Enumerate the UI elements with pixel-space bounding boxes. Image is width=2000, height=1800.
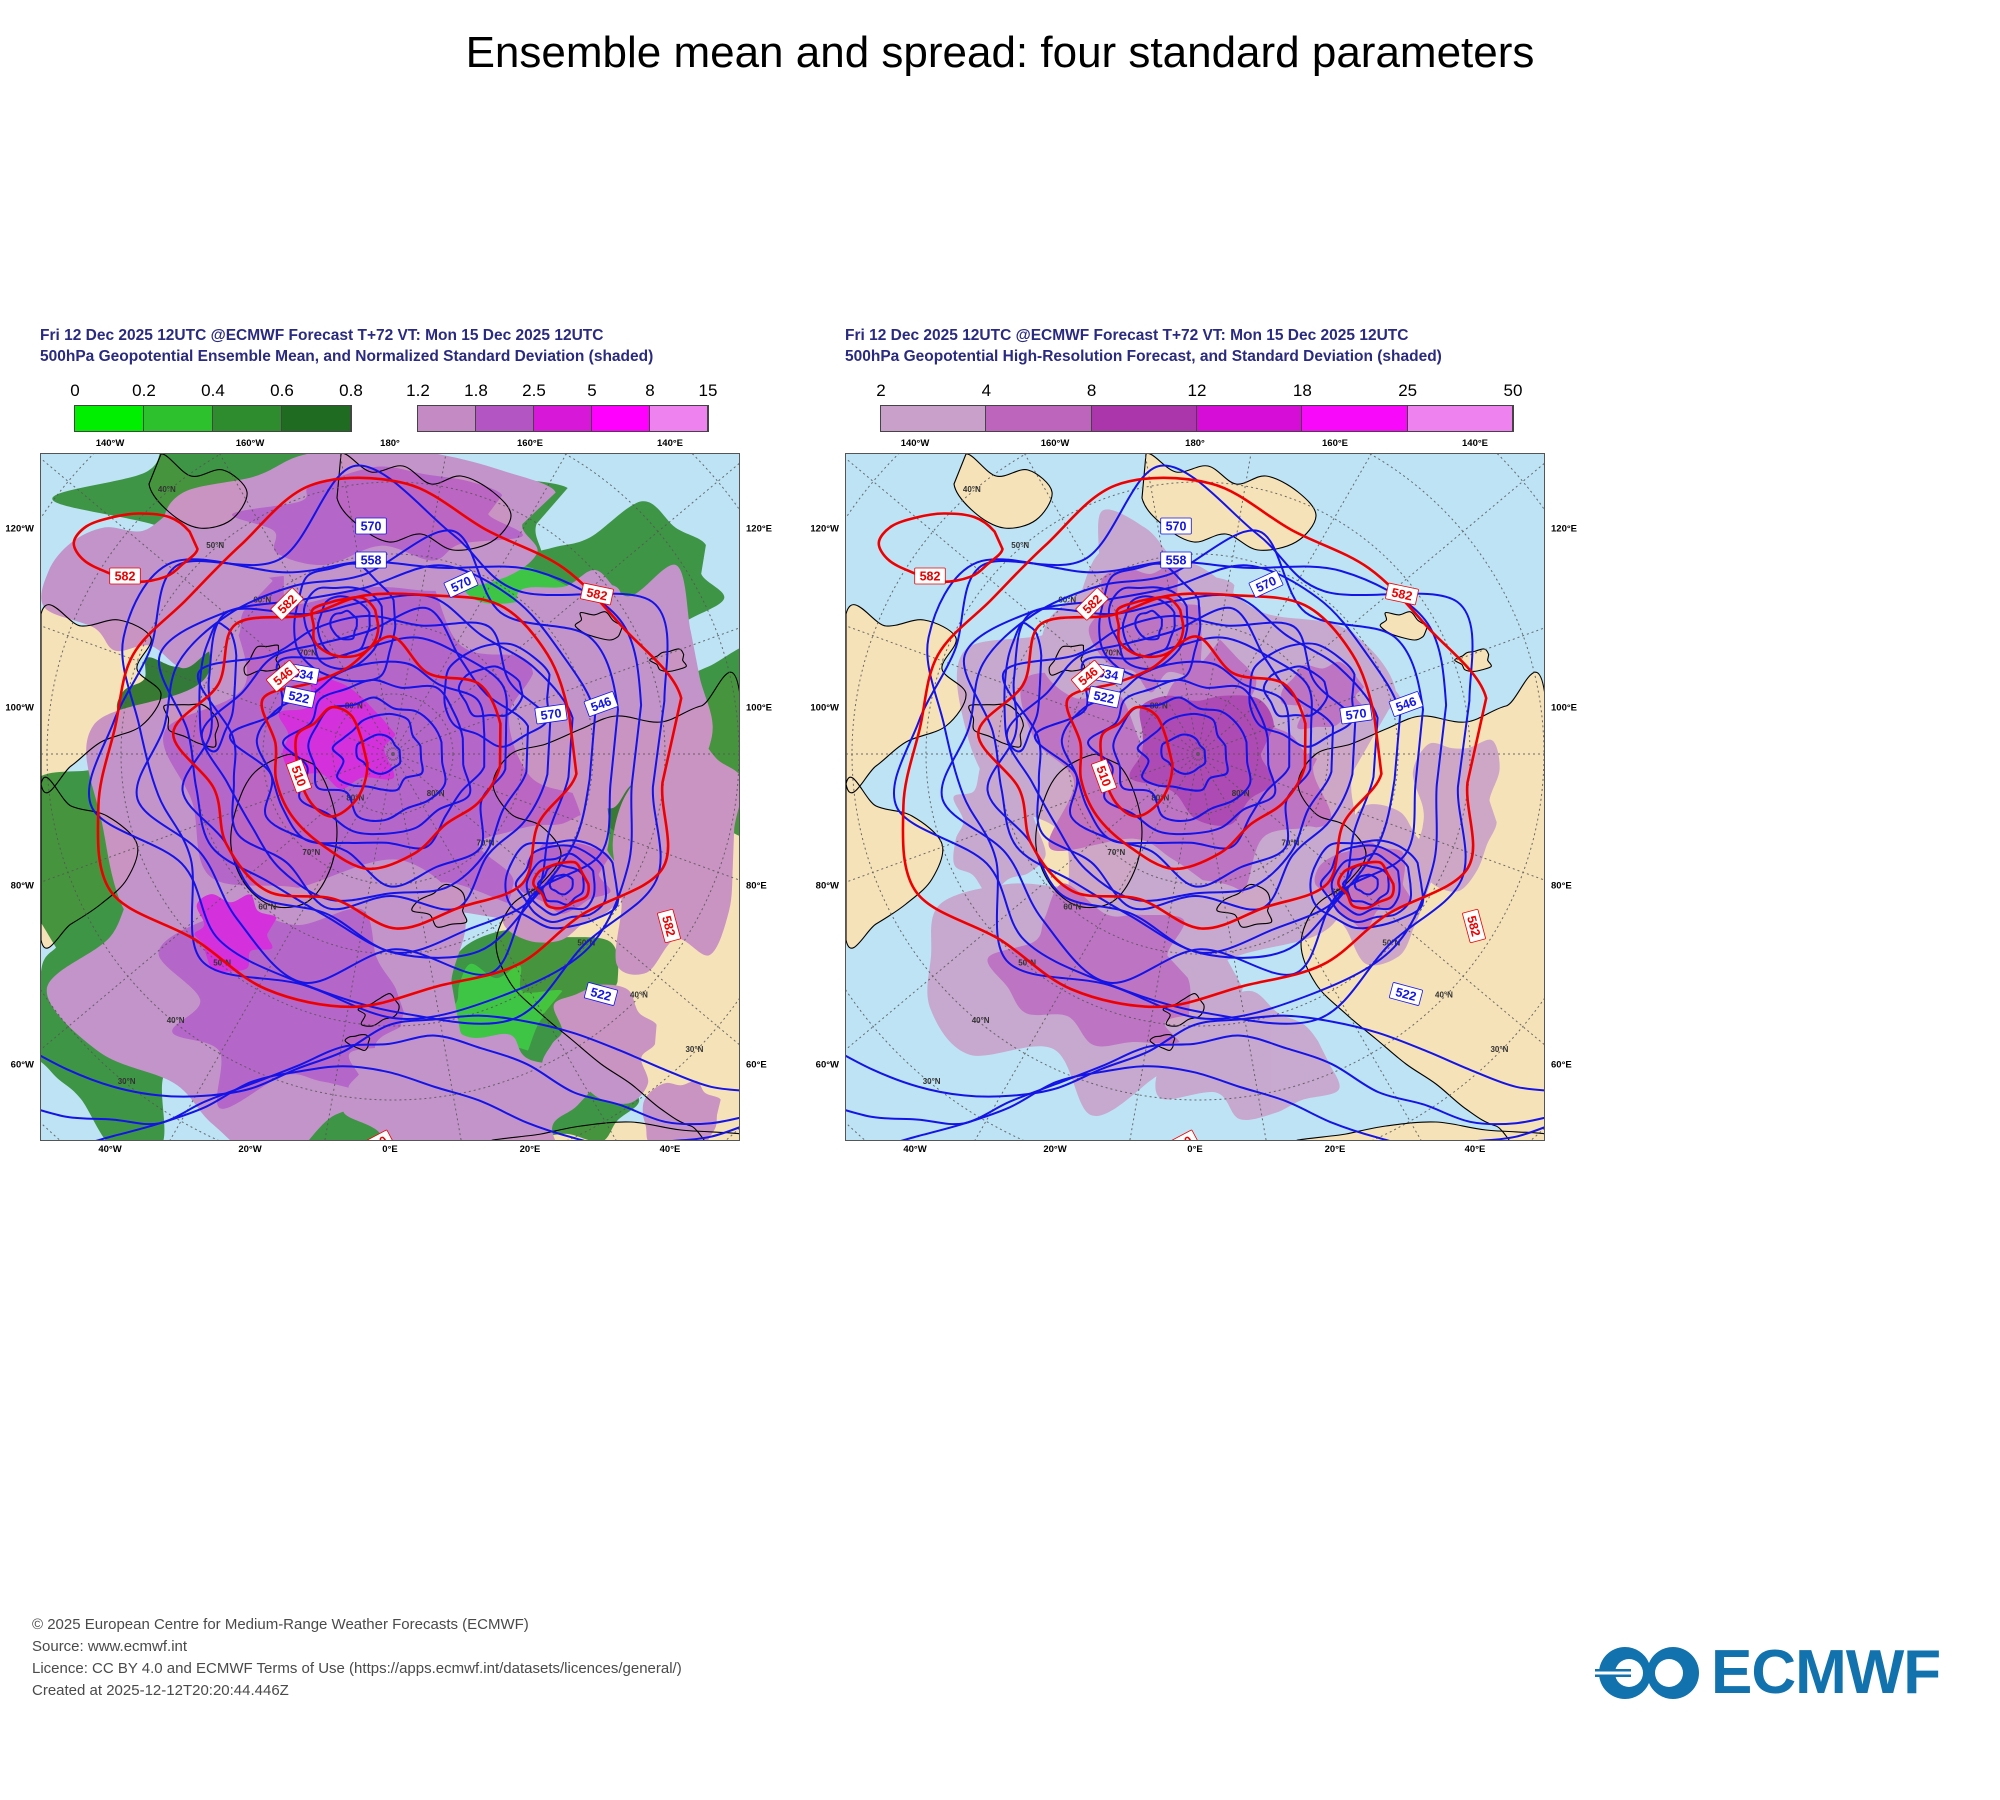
axis-label-top: 140°E — [1462, 438, 1488, 449]
colorbar-tick-label: 0 — [70, 381, 79, 401]
colorbar-swatch — [534, 406, 592, 431]
footer: © 2025 European Centre for Medium-Range … — [32, 1614, 682, 1702]
colorbar-row-right: 24812182550 — [845, 379, 1545, 435]
panel-ensemble-mean: Fri 12 Dec 2025 12UTC @ECMWF Forecast T+… — [40, 325, 740, 1123]
footer-source: Source: www.ecmwf.int — [32, 1636, 682, 1658]
colorbar-green-scale: 00.20.40.60.8 — [74, 405, 352, 432]
axis-label-top: 160°W — [236, 438, 265, 449]
footer-created: Created at 2025-12-12T20:20:44.446Z — [32, 1680, 682, 1702]
axis-label-bottom: 40°E — [660, 1144, 681, 1155]
panel-header-line1: Fri 12 Dec 2025 12UTC @ECMWF Forecast T+… — [845, 325, 1545, 346]
colorbar-swatch — [592, 406, 650, 431]
graticule-label: 70°N — [302, 848, 320, 857]
map-container-right: 80°N80°N80°N70°N70°N70°N60°N60°N60°N50°N… — [845, 435, 1545, 1123]
colorbar-swatch — [282, 406, 351, 431]
axis-label-left: 100°W — [5, 702, 34, 713]
graticule-label: 40°N — [963, 485, 981, 494]
colorbar-swatch — [1408, 406, 1513, 431]
ecmwf-logo-mark — [1595, 1637, 1703, 1709]
colorbar-tick-label: 2 — [876, 381, 885, 401]
colorbar-tick-label: 5 — [587, 381, 596, 401]
colorbar-tick-label: 25 — [1398, 381, 1417, 401]
graticule-label: 40°N — [972, 1016, 990, 1025]
axis-label-top: 180° — [380, 438, 400, 449]
colorbar-tick-label: 1.8 — [464, 381, 488, 401]
graticule-label: 60°N — [258, 903, 276, 912]
map-svg: 80°N80°N80°N70°N70°N70°N60°N60°N60°N50°N… — [846, 454, 1545, 1141]
graticule-label: 40°N — [630, 990, 648, 999]
axis-label-right: 120°E — [746, 524, 772, 535]
colorbar-swatch — [476, 406, 534, 431]
panel-header-line2: 500hPa Geopotential Ensemble Mean, and N… — [40, 346, 740, 367]
colorbar-swatch — [881, 406, 986, 431]
axis-label-top: 160°E — [517, 438, 543, 449]
graticule-label: 50°N — [1011, 541, 1029, 550]
axis-label-right: 80°E — [1551, 881, 1572, 892]
colorbar-swatch — [1092, 406, 1197, 431]
colorbar-swatch — [144, 406, 213, 431]
graticule-label: 40°N — [158, 485, 176, 494]
axis-label-right: 120°E — [1551, 524, 1577, 535]
colorbar-purple-scale: 1.21.82.55815 — [417, 405, 709, 432]
graticule-label: 50°N — [206, 541, 224, 550]
axis-label-bottom: 40°W — [98, 1144, 121, 1155]
axis-label-bottom: 0°E — [382, 1144, 397, 1155]
footer-licence: Licence: CC BY 4.0 and ECMWF Terms of Us… — [32, 1658, 682, 1680]
contour-label: 558 — [1161, 552, 1192, 568]
axis-label-top: 140°W — [901, 438, 930, 449]
panel-header-left: Fri 12 Dec 2025 12UTC @ECMWF Forecast T+… — [40, 325, 740, 367]
colorbar-tick-label: 15 — [699, 381, 718, 401]
axis-label-left: 80°W — [11, 881, 34, 892]
colorbar-swatch — [986, 406, 1091, 431]
colorbar-swatch — [75, 406, 144, 431]
colorbar-tick-label: 12 — [1188, 381, 1207, 401]
contour-label: 582 — [915, 568, 946, 584]
axis-label-bottom: 0°E — [1187, 1144, 1202, 1155]
graticule-label: 40°N — [1435, 990, 1453, 999]
axis-label-right: 100°E — [1551, 702, 1577, 713]
svg-text:570: 570 — [361, 520, 382, 534]
axis-label-right: 60°E — [1551, 1060, 1572, 1071]
ecmwf-logo-text: ECMWF — [1711, 1642, 1940, 1704]
contour-label: 582 — [110, 568, 141, 584]
colorbar-tick-label: 18 — [1293, 381, 1312, 401]
colorbar-tick-label: 50 — [1504, 381, 1523, 401]
colorbar-tick-label: 8 — [1087, 381, 1096, 401]
colorbar-swatch — [650, 406, 708, 431]
svg-text:582: 582 — [920, 570, 941, 584]
graticule-label: 30°N — [1490, 1045, 1508, 1054]
map-svg: 80°N80°N80°N70°N70°N70°N60°N60°N60°N50°N… — [41, 454, 740, 1141]
axis-label-left: 120°W — [5, 524, 34, 535]
svg-text:558: 558 — [1166, 554, 1187, 568]
colorbar-tick-label: 0.2 — [132, 381, 156, 401]
colorbar-tick-label: 8 — [645, 381, 654, 401]
axis-label-top: 180° — [1185, 438, 1205, 449]
colorbar-row-left: 00.20.40.60.8 1.21.82.55815 — [40, 379, 740, 435]
panel-header-right: Fri 12 Dec 2025 12UTC @ECMWF Forecast T+… — [845, 325, 1545, 367]
colorbar-tick-label: 0.6 — [270, 381, 294, 401]
shading-layer — [41, 454, 740, 1141]
graticule-label: 80°N — [1232, 789, 1250, 798]
axis-label-bottom: 40°E — [1465, 1144, 1486, 1155]
axis-label-top: 160°W — [1041, 438, 1070, 449]
colorbar-swatch — [1197, 406, 1302, 431]
axis-label-bottom: 40°W — [903, 1144, 926, 1155]
svg-text:570: 570 — [1345, 706, 1368, 723]
graticule-label: 30°N — [685, 1045, 703, 1054]
svg-text:558: 558 — [361, 554, 382, 568]
colorbar-tick-label: 0.8 — [339, 381, 363, 401]
axis-label-bottom: 20°E — [520, 1144, 541, 1155]
axis-label-top: 160°E — [1322, 438, 1348, 449]
map-plot-area[interactable]: 80°N80°N80°N70°N70°N70°N60°N60°N60°N50°N… — [845, 453, 1545, 1141]
map-plot-area[interactable]: 80°N80°N80°N70°N70°N70°N60°N60°N60°N50°N… — [40, 453, 740, 1141]
axis-label-top: 140°E — [657, 438, 683, 449]
axis-label-bottom: 20°W — [1043, 1144, 1066, 1155]
contour-label: 570 — [356, 518, 387, 534]
svg-text:570: 570 — [540, 706, 563, 723]
axis-label-right: 80°E — [746, 881, 767, 892]
panel-header-line1: Fri 12 Dec 2025 12UTC @ECMWF Forecast T+… — [40, 325, 740, 346]
contour-label: 570 — [1161, 518, 1192, 534]
colorbar-swatch — [213, 406, 282, 431]
graticule-label: 40°N — [167, 1016, 185, 1025]
axis-label-top: 140°W — [96, 438, 125, 449]
ecmwf-logo: ECMWF — [1595, 1636, 1940, 1710]
axis-label-left: 60°W — [11, 1060, 34, 1071]
colorbar-swatch — [418, 406, 476, 431]
graticule-label: 70°N — [1107, 848, 1125, 857]
svg-text:570: 570 — [1166, 520, 1187, 534]
colorbar-swatch — [1302, 406, 1407, 431]
axis-label-left: 60°W — [816, 1060, 839, 1071]
colorbar-tick-label: 4 — [982, 381, 991, 401]
axis-label-right: 100°E — [746, 702, 772, 713]
colorbar-tick-label: 2.5 — [522, 381, 546, 401]
panel-high-resolution: Fri 12 Dec 2025 12UTC @ECMWF Forecast T+… — [845, 325, 1545, 1123]
colorbar-purple-scale: 24812182550 — [880, 405, 1514, 432]
axis-label-left: 80°W — [816, 881, 839, 892]
contour-label: 558 — [356, 552, 387, 568]
map-container-left: 80°N80°N80°N70°N70°N70°N60°N60°N60°N50°N… — [40, 435, 740, 1123]
axis-label-right: 60°E — [746, 1060, 767, 1071]
graticule-label: 60°N — [1063, 903, 1081, 912]
colorbar-tick-label: 0.4 — [201, 381, 225, 401]
svg-text:582: 582 — [115, 570, 136, 584]
axis-label-bottom: 20°E — [1325, 1144, 1346, 1155]
axis-label-left: 100°W — [810, 702, 839, 713]
panel-header-line2: 500hPa Geopotential High-Resolution Fore… — [845, 346, 1545, 367]
axis-label-bottom: 20°W — [238, 1144, 261, 1155]
graticule-label: 30°N — [118, 1077, 136, 1086]
page-title: Ensemble mean and spread: four standard … — [0, 28, 2000, 78]
graticule-label: 30°N — [923, 1077, 941, 1086]
footer-copyright: © 2025 European Centre for Medium-Range … — [32, 1614, 682, 1636]
axis-label-left: 120°W — [810, 524, 839, 535]
graticule-label: 80°N — [427, 789, 445, 798]
colorbar-tick-label: 1.2 — [406, 381, 430, 401]
